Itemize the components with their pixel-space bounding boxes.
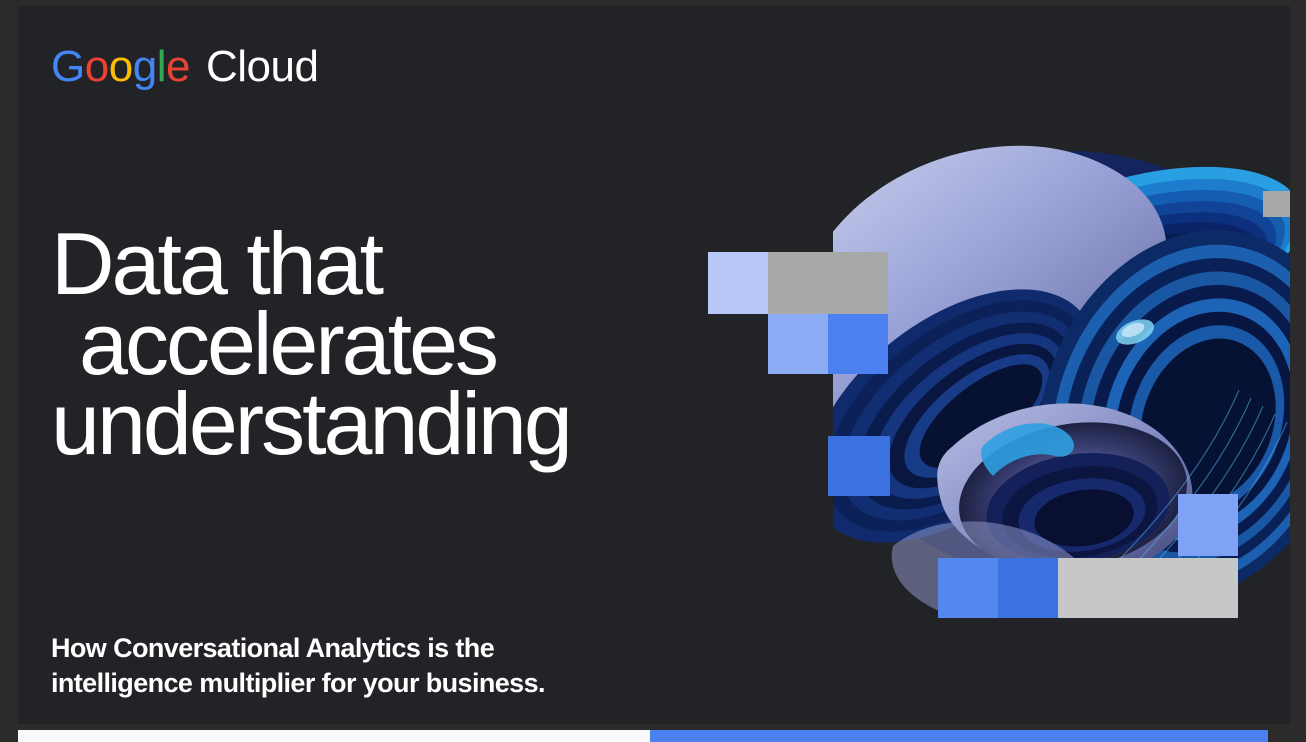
square-gray-bottom-3 [1058,558,1238,618]
square-blue-mid [828,314,888,374]
square-gray-top-right [1263,191,1290,217]
google-cloud-logo[interactable]: GoogleCloud [51,38,318,96]
headline-line-2: accelerates [51,304,731,384]
logo-letter-e: e [166,42,190,91]
subtitle-line-2: intelligence multiplier for your busines… [51,666,691,701]
progress-bar-right-segment[interactable] [650,730,1268,742]
square-gray-top-mid [768,252,888,314]
logo-letter-g1: G [51,42,85,91]
hero-artwork [673,106,1290,626]
bottom-progress-bar[interactable] [18,730,1290,742]
subtitle-line-1: How Conversational Analytics is the [51,631,691,666]
square-blue-bottom-2 [998,558,1058,618]
square-cornflower-bottom-1 [938,558,998,618]
presentation-frame: GoogleCloud [0,0,1306,742]
logo-letter-o2: o [109,42,133,91]
subtitle: How Conversational Analytics is the inte… [51,631,691,701]
square-cornflower-mid-left [768,314,828,374]
headline-line-3: understanding [51,384,731,464]
logo-letter-o1: o [85,42,109,91]
slide-canvas[interactable]: GoogleCloud [18,6,1290,724]
logo-letter-l: l [157,42,166,91]
logo-letter-g2: g [133,42,157,91]
square-cornflower-right [1178,494,1238,556]
page-title: Data that accelerates understanding [51,224,731,464]
headline-line-1: Data that [51,224,731,304]
logo-word-cloud: Cloud [206,42,318,91]
progress-bar-left-segment[interactable] [18,730,650,742]
square-blue-lower-left [828,436,890,496]
